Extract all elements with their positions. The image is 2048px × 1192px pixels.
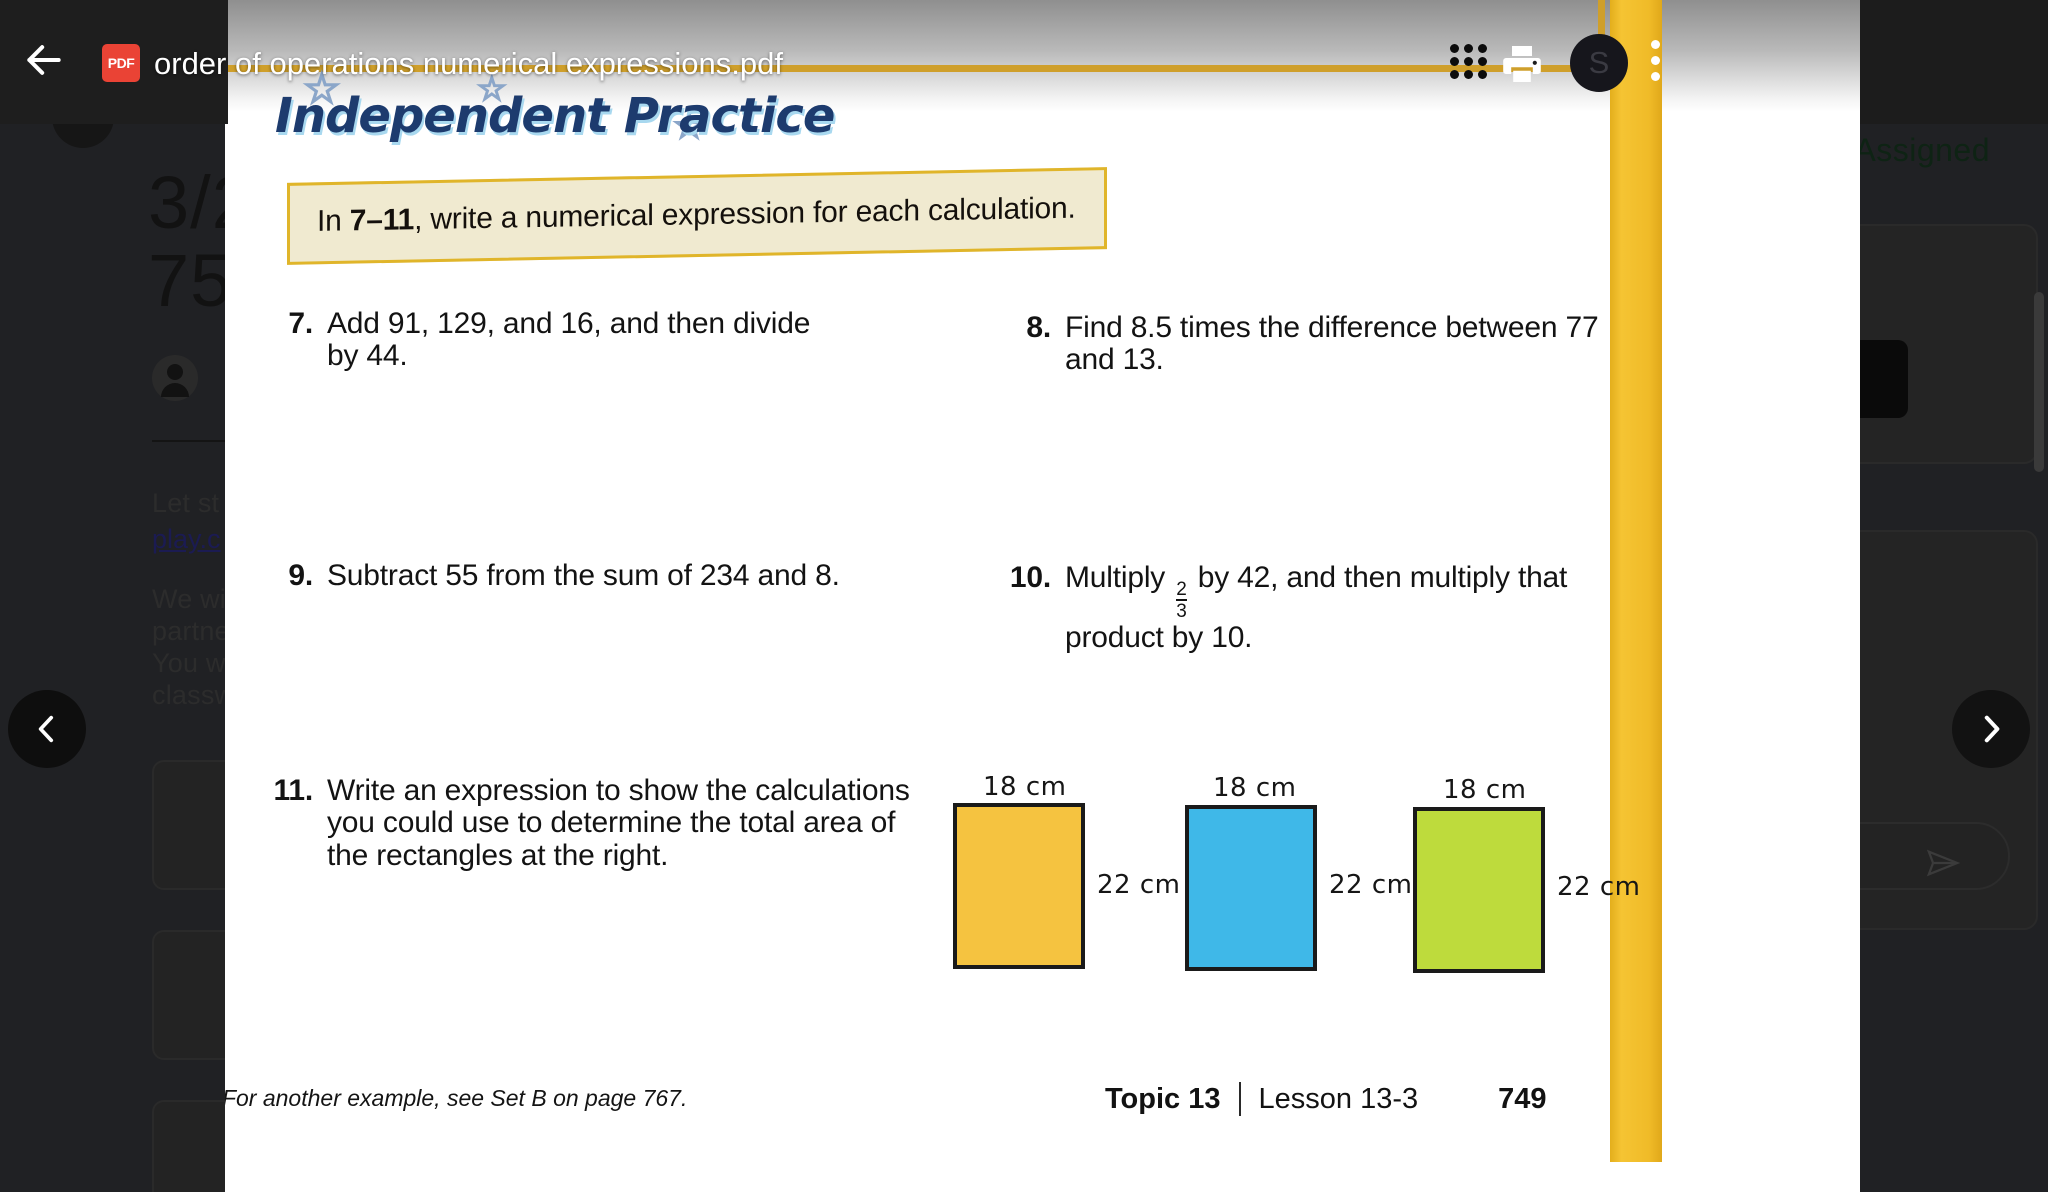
decorative-yellow-band <box>1610 0 1662 1162</box>
rectangle-blue-height-label: 22 cm <box>1329 870 1412 900</box>
pdf-file-type-badge: PDF <box>102 44 140 82</box>
section-heading: Independent Practice <box>275 88 834 144</box>
rectangle-blue <box>1185 805 1317 971</box>
rectangle-orange-width-label: 18 cm <box>983 772 1066 802</box>
screen: 01Cl Mr.Smith 3/2 75 Let st play.c We wi… <box>0 0 2048 1192</box>
background-points-text: 75 <box>148 238 232 323</box>
problem-7-text: Add 91, 129, and 16, and then divide by … <box>327 308 833 373</box>
page-footer: Topic 13 Lesson 13-3 749 <box>1105 1082 1547 1116</box>
footnote: *For another example, see Set B on page … <box>225 1085 687 1112</box>
background-link[interactable]: play.c <box>152 524 221 555</box>
print-icon[interactable] <box>1496 40 1548 88</box>
problem-11: 11. Write an expression to show the calc… <box>255 775 915 872</box>
fraction-denominator: 3 <box>1176 599 1186 621</box>
problem-9-number: 9. <box>273 560 313 592</box>
rectangle-orange-height-label: 22 cm <box>1097 870 1180 900</box>
background-body-line-3: partne <box>152 616 230 647</box>
problem-11-number: 11. <box>255 775 313 872</box>
problem-9-text: Subtract 55 from the sum of 234 and 8. <box>327 560 913 592</box>
problem-7-number: 7. <box>273 308 313 373</box>
background-body-line-1: Let st <box>152 488 219 519</box>
next-page-button[interactable] <box>1952 690 2030 768</box>
fraction-numerator: 2 <box>1176 580 1186 599</box>
instruction-prefix: In <box>317 204 350 238</box>
problem-7: 7. Add 91, 129, and 16, and then divide … <box>273 308 833 373</box>
chevron-left-icon <box>30 712 64 746</box>
problem-10-text-before: Multiply <box>1065 561 1173 594</box>
problem-10: 10. Multiply 23 by 42, and then multiply… <box>993 562 1613 654</box>
rectangle-orange <box>953 803 1085 969</box>
problem-8-text: Find 8.5 times the difference between 77… <box>1065 312 1615 377</box>
problem-9: 9. Subtract 55 from the sum of 234 and 8… <box>273 560 913 592</box>
chevron-right-icon <box>1974 712 2008 746</box>
pdf-page[interactable]: ☆ ☆ ☆ Independent Practice In 7–11, writ… <box>225 0 1860 1192</box>
fraction-two-thirds: 23 <box>1176 580 1186 622</box>
background-scrollbar[interactable] <box>2034 292 2044 472</box>
problem-10-text: Multiply 23 by 42, and then multiply tha… <box>1065 562 1613 654</box>
background-assigned-label: Assigned <box>1854 132 1990 169</box>
rectangle-green-width-label: 18 cm <box>1443 775 1526 805</box>
problem-10-number: 10. <box>993 562 1051 654</box>
background-user-avatar <box>152 355 198 401</box>
footer-topic: Topic 13 <box>1105 1083 1221 1116</box>
problem-8: 8. Find 8.5 times the difference between… <box>1015 312 1615 377</box>
background-body-line-5: classw <box>152 680 234 711</box>
background-body-line-2: We wi <box>152 584 226 615</box>
footer-page-number: 749 <box>1498 1083 1546 1116</box>
back-arrow-icon[interactable] <box>22 38 66 82</box>
account-avatar[interactable]: S <box>1570 34 1628 92</box>
footer-separator <box>1239 1082 1241 1116</box>
rectangle-green-height-label: 22 cm <box>1557 872 1640 902</box>
problem-11-text: Write an expression to show the calculat… <box>327 775 915 872</box>
rectangle-green <box>1413 807 1545 973</box>
pdf-header-right-backdrop <box>1860 0 2048 124</box>
footer-lesson: Lesson 13-3 <box>1259 1083 1419 1116</box>
rectangle-blue-width-label: 18 cm <box>1213 773 1296 803</box>
instruction-range: 7–11 <box>350 203 414 237</box>
problem-8-number: 8. <box>1015 312 1051 377</box>
background-body-line-4: You w <box>152 648 226 679</box>
previous-page-button[interactable] <box>8 690 86 768</box>
footnote-text: For another example, see Set B on page 7… <box>225 1085 687 1111</box>
send-icon[interactable] <box>1920 846 1966 880</box>
decorative-gold-frame <box>225 0 1605 72</box>
grid-apps-icon[interactable] <box>1448 40 1492 84</box>
kebab-menu-icon[interactable] <box>1640 40 1670 88</box>
